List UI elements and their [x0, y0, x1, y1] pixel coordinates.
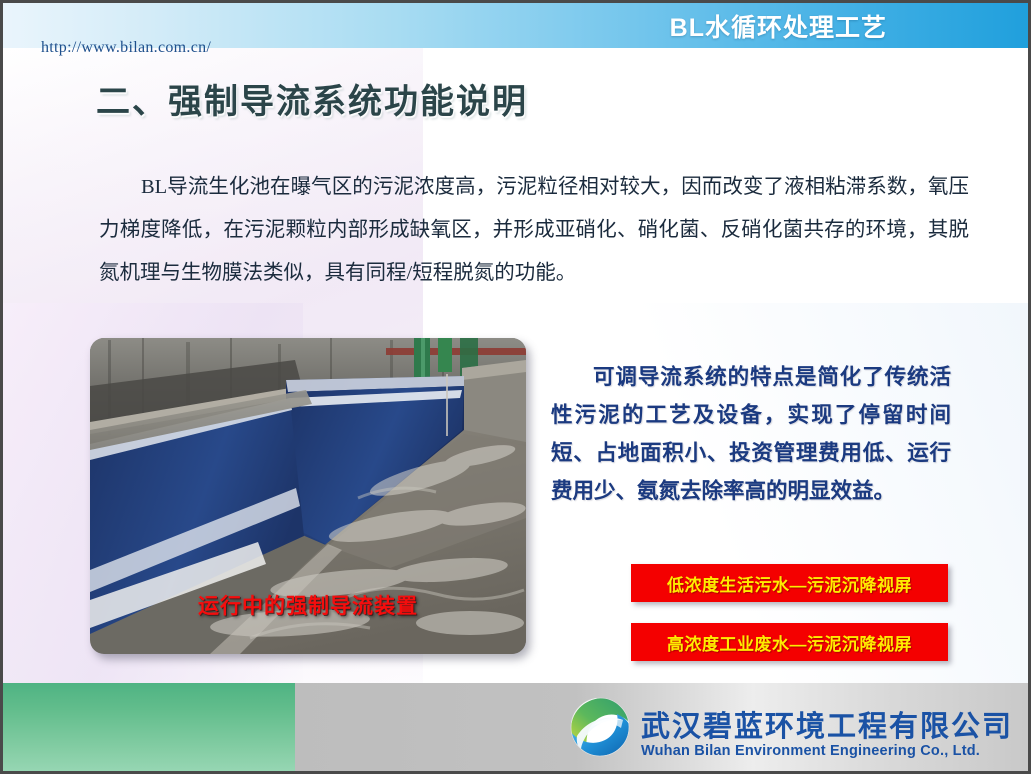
footer-website-url[interactable]: http://www.bilan.com.cn/: [41, 39, 211, 57]
page-title: 二、强制导流系统功能说明: [96, 74, 528, 123]
bilan-swirl-logo-icon: [569, 696, 631, 758]
photo-illustration: [90, 338, 526, 654]
video-link-low-concentration-label: 低浓度生活污水—污泥沉降视屏: [667, 571, 912, 596]
video-link-low-concentration[interactable]: 低浓度生活污水—污泥沉降视屏: [631, 564, 948, 602]
header-title: BL水循环处理工艺: [670, 8, 887, 44]
feature-description: 可调导流系统的特点是简化了传统活性污泥的工艺及设备，实现了停留时间短、占地面积小…: [551, 358, 951, 510]
video-link-high-concentration[interactable]: 高浓度工业废水—污泥沉降视屏: [631, 623, 948, 661]
video-link-high-concentration-label: 高浓度工业废水—污泥沉降视屏: [667, 630, 912, 655]
diversion-device-photo: 运行中的强制导流装置: [90, 338, 526, 654]
slide-canvas: BL水循环处理工艺 二、强制导流系统功能说明 BL导流生化池在曝气区的污泥浓度高…: [0, 0, 1031, 774]
company-name-cn: 武汉碧蓝环境工程有限公司: [641, 703, 1013, 745]
body-paragraph: BL导流生化池在曝气区的污泥浓度高，污泥粒径相对较大，因而改变了液相粘滞系数，氧…: [99, 166, 969, 295]
footer-green-block: [3, 683, 295, 771]
company-name-en: Wuhan Bilan Environment Engineering Co.,…: [641, 743, 980, 759]
